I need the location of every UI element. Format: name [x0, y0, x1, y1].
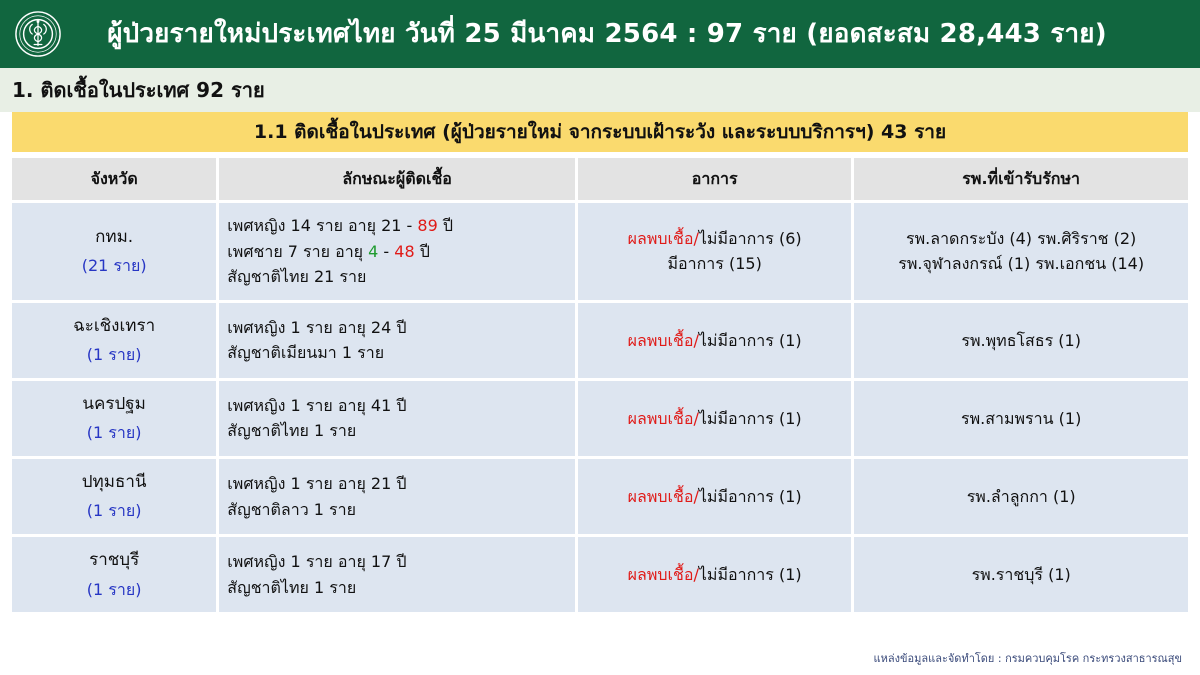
text-run: เพศหญิง 1 ราย อายุ 41 ปี — [227, 396, 406, 415]
cell-case-profile: เพศหญิง 1 ราย อายุ 41 ปีสัญชาติไทย 1 ราย — [218, 379, 577, 457]
text-line: ผลพบเชื้อ/ไม่มีอาการ (1) — [586, 328, 843, 354]
table-row: ปทุมธานี(1 ราย)เพศหญิง 1 ราย อายุ 21 ปีส… — [12, 458, 1188, 536]
text-run: ไม่มีอาการ (1) — [699, 487, 802, 506]
province-name: กทม. — [20, 224, 208, 250]
cell-case-profile: เพศหญิง 1 ราย อายุ 17 ปีสัญชาติไทย 1 ราย — [218, 536, 577, 613]
text-line: รพ.ลาดกระบัง (4) รพ.ศิริราช (2) — [862, 226, 1180, 252]
text-run: ผลพบเชื้อ/ — [628, 331, 699, 350]
text-line: ผลพบเชื้อ/ไม่มีอาการ (6) — [586, 226, 843, 252]
province-name: ราชบุรี — [20, 547, 208, 573]
section-heading: 1. ติดเชื้อในประเทศ 92 ราย — [12, 74, 265, 106]
text-line: ผลพบเชื้อ/ไม่มีอาการ (1) — [586, 406, 843, 432]
column-header-1: ลักษณะผู้ติดเชื้อ — [218, 158, 577, 202]
text-run: รพ.พุทธโสธร (1) — [961, 331, 1081, 350]
cell-hospital: รพ.พุทธโสธร (1) — [853, 301, 1188, 379]
cell-province: ปทุมธานี(1 ราย) — [12, 458, 218, 536]
text-run: ผลพบเชื้อ/ — [628, 487, 699, 506]
table-row: นครปฐม(1 ราย)เพศหญิง 1 ราย อายุ 41 ปีสัญ… — [12, 379, 1188, 457]
cell-symptom: ผลพบเชื้อ/ไม่มีอาการ (1) — [576, 536, 852, 613]
province-case-count: (1 ราย) — [20, 499, 208, 524]
text-line: สัญชาติเมียนมา 1 ราย — [227, 340, 567, 366]
cell-hospital: รพ.ลาดกระบัง (4) รพ.ศิริราช (2)รพ.จุฬาลง… — [853, 202, 1188, 302]
text-line: ผลพบเชื้อ/ไม่มีอาการ (1) — [586, 562, 843, 588]
text-line: สัญชาติไทย 21 ราย — [227, 264, 567, 290]
text-line: รพ.ราชบุรี (1) — [862, 562, 1180, 588]
text-run: ไม่มีอาการ (1) — [699, 565, 802, 584]
cell-province: ราชบุรี(1 ราย) — [12, 536, 218, 613]
text-run: 48 — [394, 242, 414, 261]
text-line: มีอาการ (15) — [586, 251, 843, 277]
text-line: เพศหญิง 1 ราย อายุ 17 ปี — [227, 549, 567, 575]
table-header-row: จังหวัดลักษณะผู้ติดเชื้ออาการรพ.ที่เข้าร… — [12, 158, 1188, 202]
text-run: ไม่มีอาการ (6) — [699, 229, 802, 248]
text-line: เพศหญิง 14 ราย อายุ 21 - 89 ปี — [227, 213, 567, 239]
cell-province: ฉะเชิงเทรา(1 ราย) — [12, 301, 218, 379]
text-line: รพ.พุทธโสธร (1) — [862, 328, 1180, 354]
text-run: รพ.ลาดกระบัง (4) รพ.ศิริราช (2) — [906, 229, 1136, 248]
text-run: - — [378, 242, 394, 261]
text-run: ผลพบเชื้อ/ — [628, 409, 699, 428]
text-run: สัญชาติไทย 1 ราย — [227, 578, 356, 597]
page-header: ผู้ป่วยรายใหม่ประเทศไทย วันที่ 25 มีนาคม… — [0, 0, 1200, 68]
cell-case-profile: เพศหญิง 14 ราย อายุ 21 - 89 ปีเพศชาย 7 ร… — [218, 202, 577, 302]
column-header-0: จังหวัด — [12, 158, 218, 202]
text-run: รพ.ราชบุรี (1) — [972, 565, 1071, 584]
province-case-count: (21 ราย) — [20, 254, 208, 279]
text-line: สัญชาติไทย 1 ราย — [227, 575, 567, 601]
text-run: มีอาการ (15) — [667, 254, 761, 273]
text-line: เพศหญิง 1 ราย อายุ 24 ปี — [227, 315, 567, 341]
text-run: สัญชาติไทย 21 ราย — [227, 267, 366, 286]
cell-symptom: ผลพบเชื้อ/ไม่มีอาการ (6)มีอาการ (15) — [576, 202, 852, 302]
text-run: ผลพบเชื้อ/ — [628, 229, 699, 248]
text-run: สัญชาติลาว 1 ราย — [227, 500, 356, 519]
subsection-band: 1.1 ติดเชื้อในประเทศ (ผู้ป่วยรายใหม่ จาก… — [12, 112, 1188, 152]
section-strip: 1. ติดเชื้อในประเทศ 92 ราย — [0, 68, 1200, 112]
text-line: สัญชาติลาว 1 ราย — [227, 497, 567, 523]
cell-symptom: ผลพบเชื้อ/ไม่มีอาการ (1) — [576, 379, 852, 457]
text-line: เพศหญิง 1 ราย อายุ 41 ปี — [227, 393, 567, 419]
province-case-count: (1 ราย) — [20, 578, 208, 603]
text-line: รพ.จุฬาลงกรณ์ (1) รพ.เอกชน (14) — [862, 251, 1180, 277]
cell-hospital: รพ.สามพราน (1) — [853, 379, 1188, 457]
cell-hospital: รพ.ลำลูกกา (1) — [853, 458, 1188, 536]
text-run: 4 — [368, 242, 378, 261]
page-title: ผู้ป่วยรายใหม่ประเทศไทย วันที่ 25 มีนาคม… — [70, 20, 1200, 49]
text-run: ปี — [438, 216, 453, 235]
report-table-wrapper: จังหวัดลักษณะผู้ติดเชื้ออาการรพ.ที่เข้าร… — [12, 158, 1188, 612]
text-run: เพศหญิง 1 ราย อายุ 17 ปี — [227, 552, 406, 571]
text-run: สัญชาติเมียนมา 1 ราย — [227, 343, 384, 362]
text-run: เพศหญิง 1 ราย อายุ 24 ปี — [227, 318, 406, 337]
province-case-count: (1 ราย) — [20, 421, 208, 446]
cell-symptom: ผลพบเชื้อ/ไม่มีอาการ (1) — [576, 458, 852, 536]
text-line: รพ.ลำลูกกา (1) — [862, 484, 1180, 510]
table-row: ราชบุรี(1 ราย)เพศหญิง 1 ราย อายุ 17 ปีสั… — [12, 536, 1188, 613]
text-line: สัญชาติไทย 1 ราย — [227, 418, 567, 444]
text-run: 89 — [417, 216, 437, 235]
text-line: รพ.สามพราน (1) — [862, 406, 1180, 432]
province-case-count: (1 ราย) — [20, 343, 208, 368]
cell-case-profile: เพศหญิง 1 ราย อายุ 24 ปีสัญชาติเมียนมา 1… — [218, 301, 577, 379]
text-line: ผลพบเชื้อ/ไม่มีอาการ (1) — [586, 484, 843, 510]
cell-symptom: ผลพบเชื้อ/ไม่มีอาการ (1) — [576, 301, 852, 379]
text-run: รพ.จุฬาลงกรณ์ (1) รพ.เอกชน (14) — [898, 254, 1144, 273]
text-run: สัญชาติไทย 1 ราย — [227, 421, 356, 440]
text-run: เพศชาย 7 ราย อายุ — [227, 242, 368, 261]
cell-hospital: รพ.ราชบุรี (1) — [853, 536, 1188, 613]
text-run: ไม่มีอาการ (1) — [699, 331, 802, 350]
column-header-2: อาการ — [576, 158, 852, 202]
text-run: รพ.สามพราน (1) — [961, 409, 1081, 428]
subsection-heading: 1.1 ติดเชื้อในประเทศ (ผู้ป่วยรายใหม่ จาก… — [254, 117, 946, 147]
text-line: เพศชาย 7 ราย อายุ 4 - 48 ปี — [227, 239, 567, 265]
text-run: รพ.ลำลูกกา (1) — [967, 487, 1076, 506]
table-row: กทม.(21 ราย)เพศหญิง 14 ราย อายุ 21 - 89 … — [12, 202, 1188, 302]
province-name: นครปฐม — [20, 391, 208, 417]
text-run: เพศหญิง 14 ราย อายุ 21 - — [227, 216, 417, 235]
moph-caduceus-logo-icon — [14, 10, 62, 58]
report-table: จังหวัดลักษณะผู้ติดเชื้ออาการรพ.ที่เข้าร… — [12, 158, 1188, 612]
province-name: ฉะเชิงเทรา — [20, 313, 208, 339]
source-credit: แหล่งข้อมูลและจัดทำโดย : กรมควบคุมโรค กร… — [874, 649, 1182, 667]
text-line: เพศหญิง 1 ราย อายุ 21 ปี — [227, 471, 567, 497]
cell-province: กทม.(21 ราย) — [12, 202, 218, 302]
text-run: ปี — [415, 242, 430, 261]
table-row: ฉะเชิงเทรา(1 ราย)เพศหญิง 1 ราย อายุ 24 ป… — [12, 301, 1188, 379]
cell-province: นครปฐม(1 ราย) — [12, 379, 218, 457]
text-run: ผลพบเชื้อ/ — [628, 565, 699, 584]
column-header-3: รพ.ที่เข้ารับรักษา — [853, 158, 1188, 202]
cell-case-profile: เพศหญิง 1 ราย อายุ 21 ปีสัญชาติลาว 1 ราย — [218, 458, 577, 536]
text-run: ไม่มีอาการ (1) — [699, 409, 802, 428]
province-name: ปทุมธานี — [20, 469, 208, 495]
text-run: เพศหญิง 1 ราย อายุ 21 ปี — [227, 474, 406, 493]
table-body: กทม.(21 ราย)เพศหญิง 14 ราย อายุ 21 - 89 … — [12, 202, 1188, 613]
